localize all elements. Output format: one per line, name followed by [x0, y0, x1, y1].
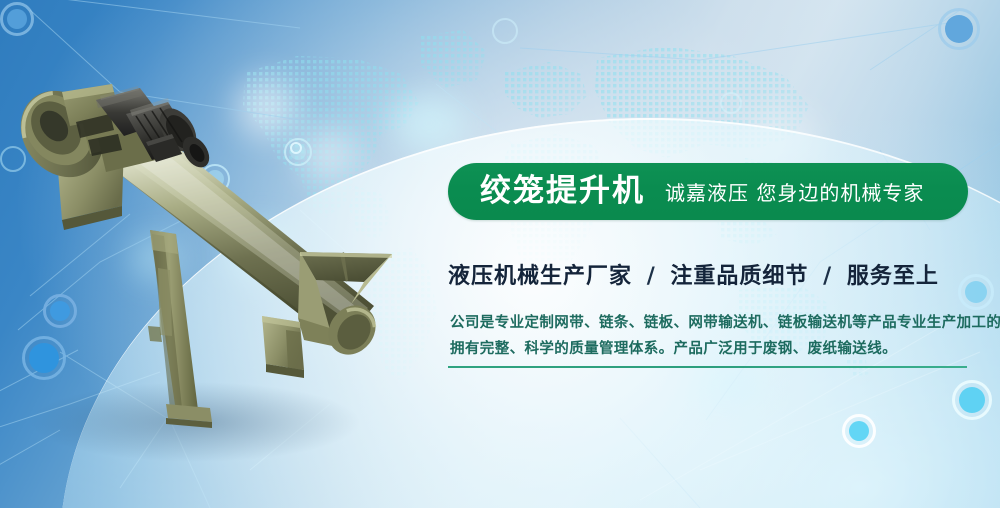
title-badge: 绞笼提升机 诚嘉液压 您身边的机械专家 — [448, 163, 968, 220]
section-divider — [448, 366, 967, 368]
banner-tagline: 诚嘉液压 您身边的机械专家 — [665, 183, 924, 203]
subtitle-separator-2: / — [817, 264, 838, 289]
subtitle-part-2: 注重品质细节 — [670, 264, 808, 289]
description-line-1: 公司是专业定制网带、链条、链板、网带输送机、链板输送机等产品专业生产加工的公司， — [450, 310, 974, 336]
banner-description: 公司是专业定制网带、链条、链板、网带输送机、链板输送机等产品专业生产加工的公司，… — [450, 310, 974, 362]
description-line-2: 拥有完整、科学的质量管理体系。产品广泛用于废钢、废纸输送线。 — [450, 336, 974, 362]
product-photo-screw-conveyor — [0, 30, 430, 470]
banner-subtitle: 液压机械生产厂家 / 注重品质细节 / 服务至上 — [448, 258, 968, 290]
subtitle-separator-1: / — [641, 264, 662, 289]
subtitle-part-3: 服务至上 — [847, 264, 939, 289]
banner-title: 绞笼提升机 — [480, 176, 645, 207]
promo-banner: 绞笼提升机 诚嘉液压 您身边的机械专家 液压机械生产厂家 / 注重品质细节 / … — [0, 0, 1000, 508]
banner-content: 绞笼提升机 诚嘉液压 您身边的机械专家 液压机械生产厂家 / 注重品质细节 / … — [448, 0, 968, 508]
subtitle-part-1: 液压机械生产厂家 — [448, 264, 632, 289]
